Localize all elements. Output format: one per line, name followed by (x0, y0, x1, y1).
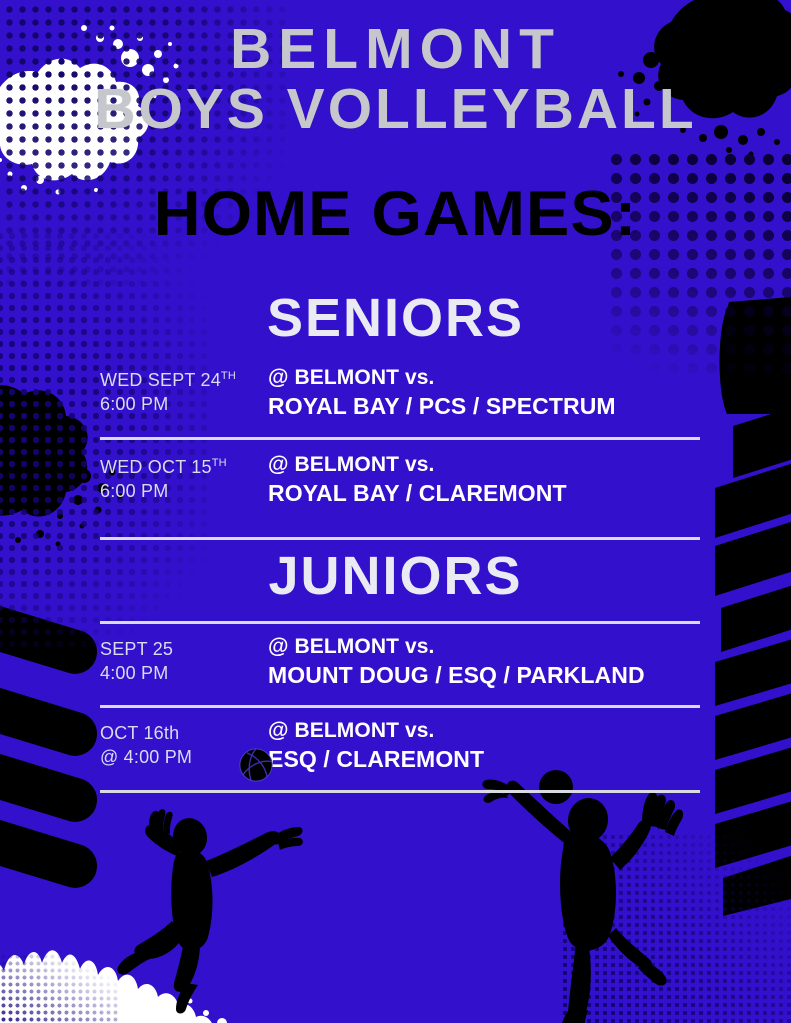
poster-subtitle: HOME GAMES: (0, 178, 791, 250)
game-date-line: WED SEPT 24TH (100, 368, 268, 392)
game-date-ordinal: TH (221, 370, 236, 382)
game-matchup: @ BELMONT vs. ESQ / CLAREMONT (268, 718, 740, 774)
game-venue: @ BELMONT vs. (268, 365, 740, 392)
volleyball-icon (239, 748, 273, 782)
game-row: WED SEPT 24TH 6:00 PM @ BELMONT vs. ROYA… (100, 365, 740, 421)
game-datetime: SEPT 25 4:00 PM (100, 634, 268, 686)
game-matchup: @ BELMONT vs. ROYAL BAY / PCS / SPECTRUM (268, 365, 740, 421)
divider (100, 790, 700, 793)
game-matchup: @ BELMONT vs. ROYAL BAY / CLAREMONT (268, 452, 740, 508)
game-date: OCT 16th (100, 723, 179, 743)
game-time: 6:00 PM (100, 392, 268, 416)
game-date-ordinal: TH (212, 457, 227, 469)
game-matchup: @ BELMONT vs. MOUNT DOUG / ESQ / PARKLAN… (268, 634, 740, 690)
game-time: 4:00 PM (100, 661, 268, 685)
game-opponents: MOUNT DOUG / ESQ / PARKLAND (268, 661, 740, 690)
game-opponents: ROYAL BAY / PCS / SPECTRUM (268, 392, 740, 421)
game-row: WED OCT 15TH 6:00 PM @ BELMONT vs. ROYAL… (100, 452, 740, 508)
game-venue: @ BELMONT vs. (268, 634, 740, 661)
halftone-dots-bottom-left (0, 953, 120, 1023)
volleyball-player-silhouette-left (104, 803, 334, 1023)
game-row: SEPT 25 4:00 PM @ BELMONT vs. MOUNT DOUG… (100, 634, 740, 690)
game-date: WED OCT 15 (100, 457, 212, 477)
poster-canvas: BELMONT BOYS VOLLEYBALL HOME GAMES: SENI… (0, 0, 791, 1023)
game-venue: @ BELMONT vs. (268, 452, 740, 479)
poster-title-line-1: BELMONT (0, 20, 791, 78)
section-heading-juniors: JUNIORS (0, 545, 791, 607)
game-time: 6:00 PM (100, 479, 268, 503)
game-opponents: ROYAL BAY / CLAREMONT (268, 479, 740, 508)
divider (100, 537, 700, 540)
game-date-line: WED OCT 15TH (100, 455, 268, 479)
game-datetime: WED OCT 15TH 6:00 PM (100, 452, 268, 504)
section-heading-seniors: SENIORS (0, 287, 791, 349)
game-datetime: WED SEPT 24TH 6:00 PM (100, 365, 268, 417)
divider (100, 705, 700, 708)
poster-title-line-2: BOYS VOLLEYBALL (0, 80, 791, 138)
game-date: WED SEPT 24 (100, 370, 221, 390)
game-date-line: SEPT 25 (100, 637, 268, 661)
volleyball-player-silhouette-right (476, 758, 701, 1023)
game-date-line: OCT 16th (100, 721, 268, 745)
divider (100, 621, 700, 624)
game-opponents: ESQ / CLAREMONT (268, 745, 740, 774)
divider (100, 437, 700, 440)
poster-title-block: BELMONT BOYS VOLLEYBALL (0, 20, 791, 138)
game-venue: @ BELMONT vs. (268, 718, 740, 745)
game-date: SEPT 25 (100, 639, 173, 659)
game-row: OCT 16th @ 4:00 PM @ BELMONT vs. ESQ / C… (100, 718, 740, 774)
